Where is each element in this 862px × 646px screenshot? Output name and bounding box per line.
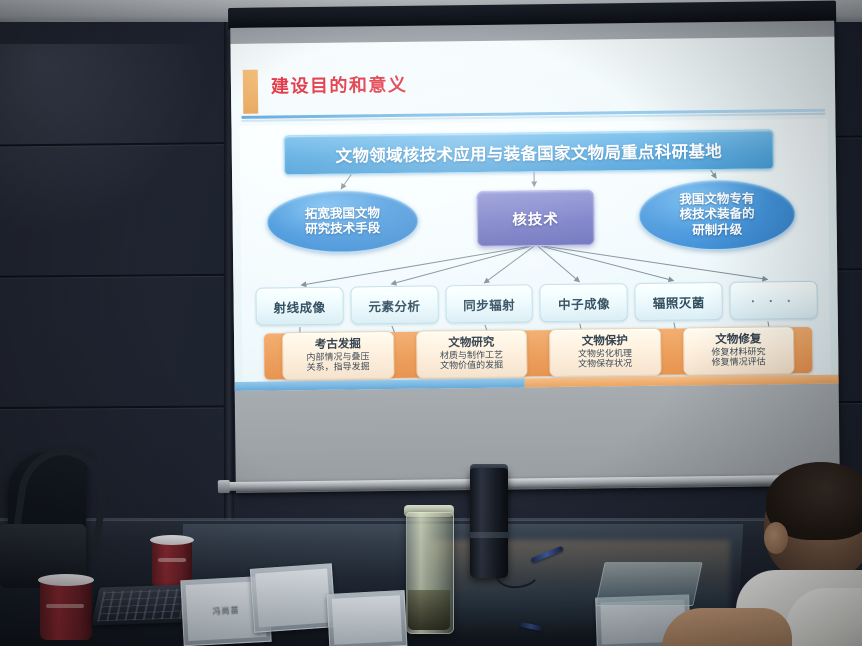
technique-label: · · · [751, 293, 796, 309]
technique-label: 射线成像 [273, 296, 325, 316]
nuclear-tech-text: 核技术 [512, 207, 559, 229]
application-line2: 修复情况评估 [712, 357, 766, 368]
name-placard-face [332, 595, 402, 644]
application-line2: 文物保存状况 [578, 358, 632, 369]
banner-text: 文物领域核技术应用与装备国家文物局重点科研基地 [335, 138, 722, 167]
technique-label: 元素分析 [368, 295, 420, 315]
basename-banner: 文物领域核技术应用与装备国家文物局重点科研基地 [284, 129, 774, 175]
technique-row: 射线成像 元素分析 同步辐射 中子成像 辐照灭菌 · · · [255, 281, 817, 326]
attendee [742, 470, 862, 646]
application-line2: 文物价值的发掘 [440, 360, 503, 371]
technique-label: 辐照灭菌 [653, 292, 705, 312]
name-placard [250, 563, 336, 633]
technique-box-0: 射线成像 [255, 287, 343, 326]
tea-leaves [408, 590, 450, 630]
technique-box-2: 同步辐射 [445, 284, 533, 323]
title-accent-bar [243, 70, 259, 114]
presentation-slide: 建设目的和意义 [230, 37, 838, 391]
application-card-2: 文物保护 文物劣化机理 文物保存状况 [549, 328, 661, 377]
technique-label: 中子成像 [558, 293, 610, 313]
conference-room-scene: 建设目的和意义 [0, 0, 862, 646]
diagram-area: 文物领域核技术应用与装备国家文物局重点科研基地 拓宽我国文物研究技术手段 核技术… [239, 119, 830, 384]
paper-cup-rim [38, 574, 94, 586]
thermos-ring [470, 532, 508, 538]
paper-cup-rim [150, 535, 194, 545]
nuclear-tech-box: 核技术 [476, 190, 595, 247]
attendee-ear [764, 522, 788, 554]
goal-left-text: 拓宽我国文物研究技术手段 [305, 206, 380, 237]
projection-screen: 建设目的和意义 [228, 1, 842, 493]
technique-box-3: 中子成像 [540, 283, 628, 322]
paper-cup-band [158, 558, 186, 562]
flip-up-monitor [595, 562, 702, 606]
technique-box-ellipsis: · · · [730, 281, 818, 320]
slide-title: 建设目的和意义 [271, 71, 408, 99]
application-heading: 考古发掘 [315, 339, 361, 352]
name-placard-face [255, 569, 331, 628]
application-card-3: 文物修复 修复材料研究 修复情况评估 [682, 326, 794, 375]
application-heading: 文物修复 [715, 334, 761, 347]
paper-cup-band [46, 604, 84, 608]
application-line2: 关系，指导发掘 [307, 362, 370, 373]
application-card-1: 文物研究 材质与制作工艺 文物价值的发掘 [415, 329, 527, 378]
technique-box-1: 元素分析 [350, 285, 438, 324]
name-placard [327, 590, 408, 646]
slide-title-row: 建设目的和意义 [231, 63, 835, 114]
application-card-0: 考古发掘 内部情况与叠压 关系，指导发掘 [282, 331, 394, 380]
technique-box-4: 辐照灭菌 [635, 282, 723, 321]
thermos-bottle [470, 468, 508, 578]
screen-roller-cap-left [218, 480, 230, 493]
paper-cup [40, 580, 92, 640]
application-heading: 文物保护 [582, 335, 628, 348]
application-heading: 文物研究 [448, 337, 494, 350]
attendee-arm [662, 608, 792, 646]
application-row: 考古发掘 内部情况与叠压 关系，指导发掘 文物研究 材质与制作工艺 文物价值的发… [264, 325, 813, 382]
technique-label: 同步辐射 [463, 294, 515, 314]
wall-light-falloff [0, 44, 210, 234]
goal-right-text: 我国文物专有核技术装备的研制升级 [679, 192, 755, 239]
